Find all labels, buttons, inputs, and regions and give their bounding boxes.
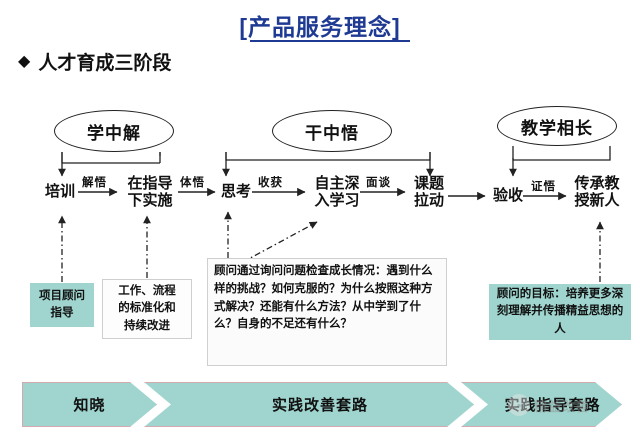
banner-step-awareness-label: 知晓 — [73, 394, 105, 415]
stage-banner: 知晓 实践改善套路 实践指导套路 — [22, 382, 622, 427]
annotation-question-note: 顾问通过询问问题检查成长情况：遇到什么样的挑战？如何克服的？为什么按照这种方式解… — [207, 258, 447, 366]
stage-ellipse-2-label: 干中悟 — [305, 119, 359, 144]
stage-ellipse-1-label: 学中解 — [87, 119, 141, 144]
edge-label-jiewu: 解悟 — [82, 174, 107, 190]
stage-ellipse-3: 教学相长 — [497, 106, 617, 146]
edge-label-shouhuo: 收获 — [258, 174, 283, 190]
banner-step-practice-improvement-label: 实践改善套路 — [250, 394, 368, 415]
annotation-standardization: 工作、流程 的标准化和 持续改进 — [102, 279, 192, 339]
stage-ellipse-2: 干中悟 — [272, 110, 392, 152]
flow-node-self-study: 自主深 入学习 — [308, 176, 366, 210]
stage-ellipse-1: 学中解 — [54, 110, 174, 152]
flow-node-topic-pull: 课题 拉动 — [406, 176, 452, 210]
connector-lines — [0, 0, 640, 433]
flow-node-acceptance: 验收 — [486, 188, 530, 205]
flow-node-training: 培训 — [38, 184, 82, 201]
banner-step-practice-improvement[interactable]: 实践改善套路 — [144, 382, 474, 427]
stage-ellipse-3-label: 教学相长 — [521, 114, 593, 139]
banner-step-practice-coaching[interactable]: 实践指导套路 — [461, 382, 622, 427]
flow-node-teach-newcomers: 传承教 授新人 — [568, 176, 626, 210]
edge-label-miantan: 面谈 — [366, 174, 391, 190]
edge-label-tiwu: 体悟 — [180, 174, 205, 190]
banner-step-practice-coaching-label: 实践指导套路 — [482, 394, 600, 415]
annotation-consultant-goal: 顾问的目标：培养更多深刻理解并传播精益思想的人 — [489, 284, 631, 340]
annotation-consultant-guidance: 项目顾问 指导 — [30, 283, 94, 327]
edge-label-zhengwu: 证悟 — [531, 178, 556, 194]
slide-canvas: [产品服务理念] ◆ 人才育成三阶段 — [0, 0, 640, 433]
flow-node-thinking: 思考 — [214, 184, 258, 201]
banner-step-awareness[interactable]: 知晓 — [22, 382, 157, 427]
flow-node-guided-implementation: 在指导 下实施 — [119, 176, 181, 210]
